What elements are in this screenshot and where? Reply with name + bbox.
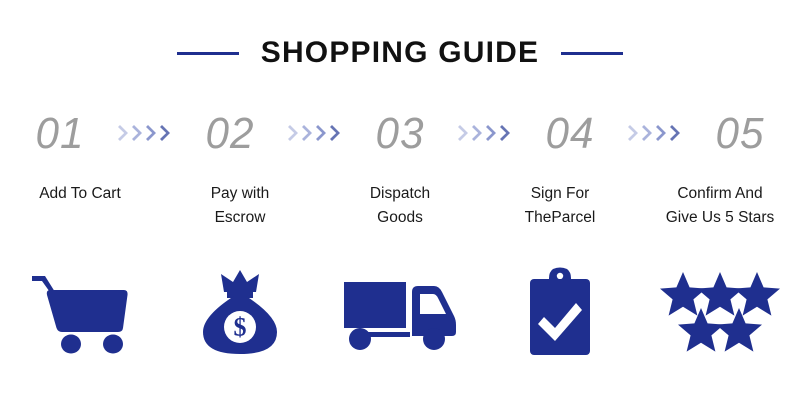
step-label-05-line2: Give Us 5 Stars: [640, 206, 800, 230]
step-label-05: Confirm And Give Us 5 Stars: [640, 182, 800, 230]
step-icon-cell-02: $: [160, 262, 320, 362]
chevron-right-icon: [486, 124, 499, 142]
chevron-right-icon: [670, 124, 683, 142]
chevron-right-icon: [642, 124, 655, 142]
step-icon-cell-05: [640, 262, 800, 362]
shopping-cart-icon: [28, 270, 132, 354]
svg-text:$: $: [234, 313, 247, 342]
page-title-row: SHOPPING GUIDE: [0, 38, 800, 68]
step-icons-row: $: [0, 262, 800, 362]
step-label-04: Sign For TheParcel: [480, 182, 640, 230]
title-rule-right: [561, 52, 623, 55]
chevron-right-arrows-icon-1: [114, 124, 176, 144]
chevron-right-icon: [302, 124, 315, 142]
step-label-05-line1: Confirm And: [640, 182, 800, 206]
chevron-right-icon: [500, 124, 513, 142]
chevron-right-arrows-icon-4: [624, 124, 686, 144]
chevron-right-icon: [146, 124, 159, 142]
step-label-02-line1: Pay with: [160, 182, 320, 206]
delivery-truck-icon: [342, 272, 458, 352]
step-label-01-line1: Add To Cart: [0, 182, 160, 206]
step-label-03-line2: Goods: [320, 206, 480, 230]
chevron-right-icon: [288, 124, 301, 142]
step-icon-cell-04: [480, 262, 640, 362]
step-icon-cell-03: [320, 262, 480, 362]
chevron-right-icon: [330, 124, 343, 142]
chevron-right-arrows-icon-3: [454, 124, 516, 144]
five-stars-icon: [660, 270, 780, 354]
step-number-03: 03: [348, 112, 452, 156]
step-label-03: Dispatch Goods: [320, 182, 480, 230]
step-label-02: Pay with Escrow: [160, 182, 320, 230]
chevron-right-icon: [656, 124, 669, 142]
step-label-04-line1: Sign For: [480, 182, 640, 206]
step-icon-cell-01: [0, 262, 160, 362]
shopping-guide-infographic: SHOPPING GUIDE 01 02 03 04: [0, 0, 800, 417]
step-label-03-line1: Dispatch: [320, 182, 480, 206]
step-numbers-row: 01 02 03 04 05: [0, 112, 800, 156]
chevron-right-icon: [458, 124, 471, 142]
money-bag-icon: $: [197, 266, 283, 358]
chevron-right-icon: [472, 124, 485, 142]
chevron-right-icon: [628, 124, 641, 142]
step-number-04: 04: [518, 112, 622, 156]
page-title: SHOPPING GUIDE: [261, 38, 540, 68]
chevron-right-icon: [160, 124, 173, 142]
chevron-right-icon: [132, 124, 145, 142]
clipboard-check-icon: [524, 267, 596, 357]
title-rule-left: [177, 52, 239, 55]
step-label-04-line2: TheParcel: [480, 206, 640, 230]
chevron-right-icon: [118, 124, 131, 142]
chevron-right-arrows-icon-2: [284, 124, 346, 144]
step-number-02: 02: [178, 112, 282, 156]
step-labels-row: Add To Cart Pay with Escrow Dispatch Goo…: [0, 182, 800, 230]
chevron-right-icon: [316, 124, 329, 142]
step-label-01: Add To Cart: [0, 182, 160, 206]
step-label-02-line2: Escrow: [160, 206, 320, 230]
step-number-01: 01: [8, 112, 112, 156]
step-number-05: 05: [688, 112, 792, 156]
